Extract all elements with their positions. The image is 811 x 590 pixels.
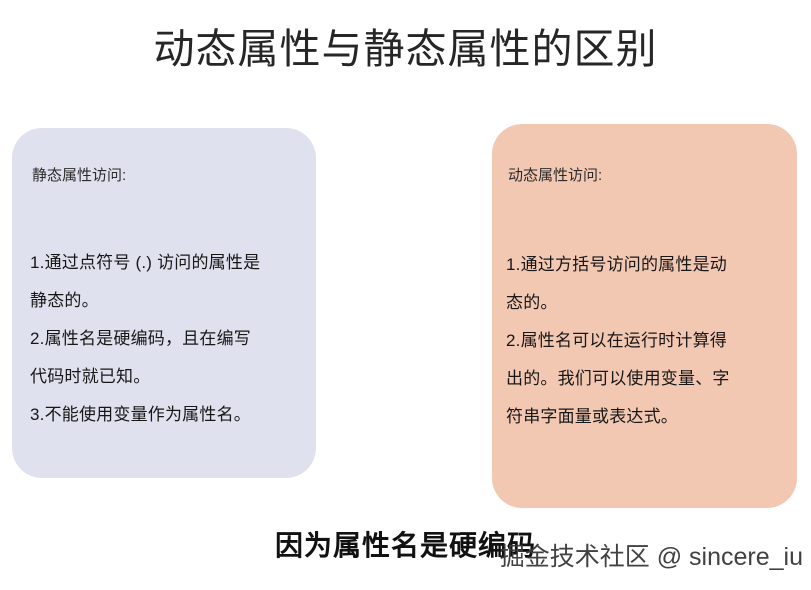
list-item: 3.不能使用变量作为属性名。 bbox=[30, 396, 300, 434]
list-item: 1.通过点符号 (.) 访问的属性是 bbox=[30, 244, 300, 282]
card-dynamic-content: 动态属性访问: 1.通过方括号访问的属性是动 态的。 2.属性名可以在运行时计算… bbox=[492, 124, 797, 508]
list-item: 出的。我们可以使用变量、字 bbox=[506, 360, 783, 398]
list-item: 2.属性名可以在运行时计算得 bbox=[506, 322, 783, 360]
card-static-heading: 静态属性访问: bbox=[32, 166, 300, 186]
list-item: 静态的。 bbox=[30, 282, 300, 320]
card-static-content: 静态属性访问: 1.通过点符号 (.) 访问的属性是 静态的。 2.属性名是硬编… bbox=[12, 128, 316, 478]
card-static-access: 静态属性访问: 1.通过点符号 (.) 访问的属性是 静态的。 2.属性名是硬编… bbox=[12, 128, 316, 478]
list-item: 代码时就已知。 bbox=[30, 358, 300, 396]
watermark: 掘金技术社区 @ sincere_iu bbox=[500, 541, 803, 573]
card-dynamic-heading: 动态属性访问: bbox=[508, 166, 783, 186]
list-item: 2.属性名是硬编码，且在编写 bbox=[30, 320, 300, 358]
list-item: 态的。 bbox=[506, 284, 783, 322]
list-item: 1.通过方括号访问的属性是动 bbox=[506, 246, 783, 284]
card-dynamic-list: 1.通过方括号访问的属性是动 态的。 2.属性名可以在运行时计算得 出的。我们可… bbox=[506, 246, 783, 436]
page-title: 动态属性与静态属性的区别 bbox=[0, 22, 811, 76]
card-static-list: 1.通过点符号 (.) 访问的属性是 静态的。 2.属性名是硬编码，且在编写 代… bbox=[30, 244, 300, 434]
slide-root: 动态属性与静态属性的区别 静态属性访问: 1.通过点符号 (.) 访问的属性是 … bbox=[0, 0, 811, 590]
card-dynamic-access: 动态属性访问: 1.通过方括号访问的属性是动 态的。 2.属性名可以在运行时计算… bbox=[492, 124, 797, 508]
list-item: 符串字面量或表达式。 bbox=[506, 398, 783, 436]
